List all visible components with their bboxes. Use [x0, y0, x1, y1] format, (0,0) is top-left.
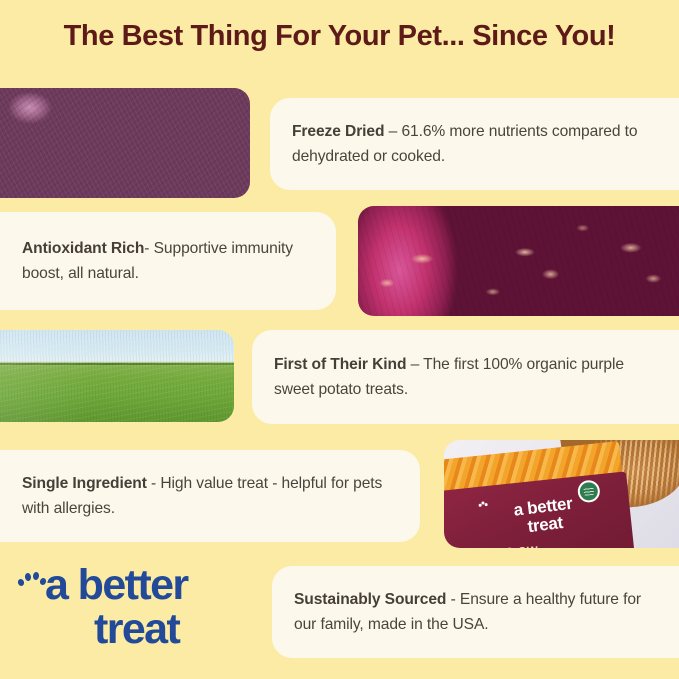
- feature-label-antioxidant-rich: Antioxidant Rich: [22, 240, 144, 257]
- feature-label-sustainably-sourced: Sustainably Sourced: [294, 591, 446, 608]
- brand-logo-line1: a better: [45, 565, 188, 606]
- feature-card-freeze-dried: Freeze Dried – 61.6% more nutrients comp…: [270, 98, 679, 190]
- photo-freeze-dried-treat-pieces-surface: [0, 88, 250, 198]
- feature-text-freeze-dried: Freeze Dried – 61.6% more nutrients comp…: [270, 119, 679, 170]
- photo-organic-farm-field: [0, 330, 234, 422]
- feature-card-sustainably-sourced: Sustainably Sourced - Ensure a healthy f…: [272, 566, 679, 658]
- feature-label-freeze-dried: Freeze Dried: [292, 123, 384, 140]
- feature-text-sustainably-sourced: Sustainably Sourced - Ensure a healthy f…: [272, 587, 679, 638]
- feature-text-antioxidant-rich: Antioxidant Rich- Supportive immunity bo…: [0, 236, 336, 287]
- brand-logo-row1: a better: [18, 560, 253, 606]
- product-bag-subtitle: ORGANIC SW: [454, 545, 540, 548]
- brand-logo: a better treat: [18, 560, 253, 651]
- feature-text-single-ingredient: Single Ingredient - High value treat - h…: [0, 471, 420, 522]
- photo-raw-purple-sweet-potatoes: [358, 206, 679, 316]
- photo-raw-purple-sweet-potatoes-surface: [358, 206, 679, 316]
- feature-card-single-ingredient: Single Ingredient - High value treat - h…: [0, 450, 420, 542]
- feature-label-first-of-their-kind: First of Their Kind: [274, 356, 406, 373]
- infographic-root: The Best Thing For Your Pet... Since You…: [0, 0, 679, 679]
- product-bag: a better treat ORGANIC SW FREEZE: [444, 441, 632, 548]
- feature-text-first-of-their-kind: First of Their Kind – The first 100% org…: [252, 352, 679, 403]
- feature-label-single-ingredient: Single Ingredient: [22, 475, 147, 492]
- photo-organic-farm-field-surface: [0, 330, 234, 422]
- photo-product-bag-with-dog: a better treat ORGANIC SW FREEZE: [444, 440, 679, 548]
- page-title: The Best Thing For Your Pet... Since You…: [0, 20, 679, 53]
- brand-logo-line2: treat: [18, 608, 253, 651]
- paw-print-icon: [18, 570, 44, 596]
- photo-freeze-dried-treat-pieces: [0, 88, 250, 198]
- feature-card-antioxidant-rich: Antioxidant Rich- Supportive immunity bo…: [0, 212, 336, 310]
- feature-card-first-of-their-kind: First of Their Kind – The first 100% org…: [252, 330, 679, 424]
